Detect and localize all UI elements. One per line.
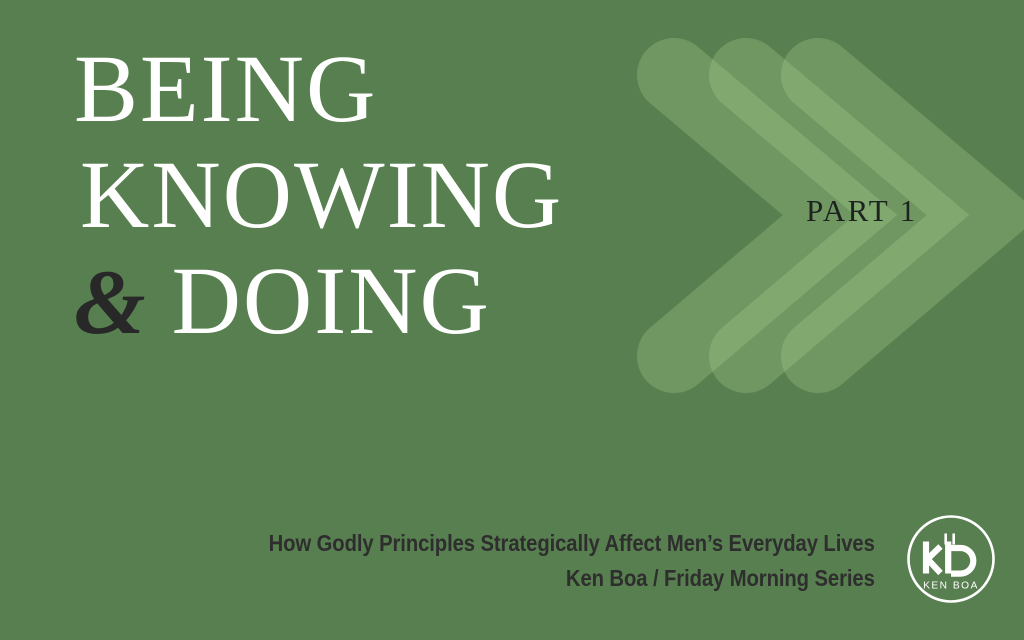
ampersand-glyph: & bbox=[74, 249, 172, 355]
ken-boa-logo: KEN BOA bbox=[904, 512, 998, 606]
logo-letter-k-icon bbox=[926, 542, 941, 574]
title-word-doing: DOING bbox=[172, 247, 491, 354]
logo-letter-b-icon bbox=[948, 542, 973, 574]
footer-byline: Ken Boa / Friday Morning Series bbox=[269, 561, 875, 596]
logo-wordmark: KEN BOA bbox=[923, 581, 979, 592]
footer-text: How Godly Principles Strategically Affec… bbox=[186, 526, 875, 596]
footer-subtitle: How Godly Principles Strategically Affec… bbox=[269, 526, 875, 561]
title-line-being: BEING bbox=[74, 36, 714, 142]
page-title: BEING KNOWING &DOING bbox=[74, 36, 714, 355]
title-line-doing: &DOING bbox=[74, 248, 714, 355]
title-slide: BEING KNOWING &DOING PART 1 How Godly Pr… bbox=[0, 0, 1024, 640]
logo-tick-right-icon bbox=[952, 534, 955, 545]
title-line-knowing: KNOWING bbox=[74, 142, 714, 248]
part-label: PART 1 bbox=[806, 193, 918, 229]
